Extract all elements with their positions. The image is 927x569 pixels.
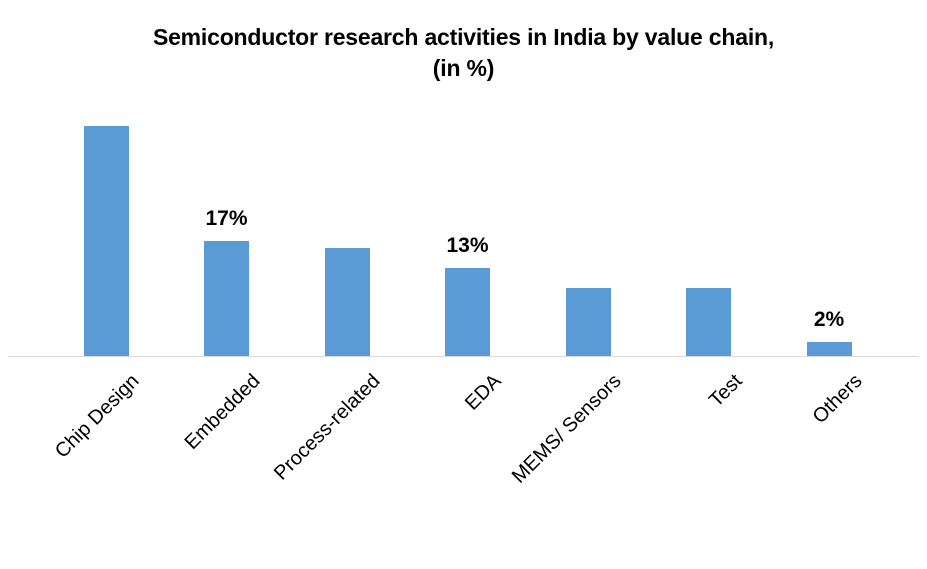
x-axis-label-embedded: Embedded [65, 370, 264, 569]
bar-chip-design[interactable] [84, 126, 129, 356]
bar-eda[interactable] [445, 268, 490, 356]
bar-process-related[interactable] [325, 248, 370, 356]
bar-embedded[interactable] [204, 241, 249, 356]
bar-value-label: 17% [167, 208, 287, 229]
x-axis-label-eda: EDA [306, 370, 505, 569]
bar-test[interactable] [686, 288, 731, 356]
x-axis-label-chip-design: Chip Design [0, 370, 144, 569]
bar-value-label: 13% [408, 235, 528, 256]
plot-area: Chip Design17%EmbeddedProcess-related13%… [0, 0, 927, 527]
x-axis-label-process-related: Process-related [185, 370, 384, 569]
bar-others[interactable] [807, 342, 852, 356]
bar-mems-sensors[interactable] [566, 288, 611, 356]
bar-value-label: 2% [769, 309, 889, 330]
x-axis-label-mems-sensors: MEMS/ Sensors [426, 370, 625, 569]
bar-chart: Semiconductor research activities in Ind… [0, 0, 927, 527]
x-axis-label-others: Others [667, 370, 866, 569]
x-axis-line [8, 356, 919, 357]
x-axis-label-test: Test [547, 370, 746, 569]
